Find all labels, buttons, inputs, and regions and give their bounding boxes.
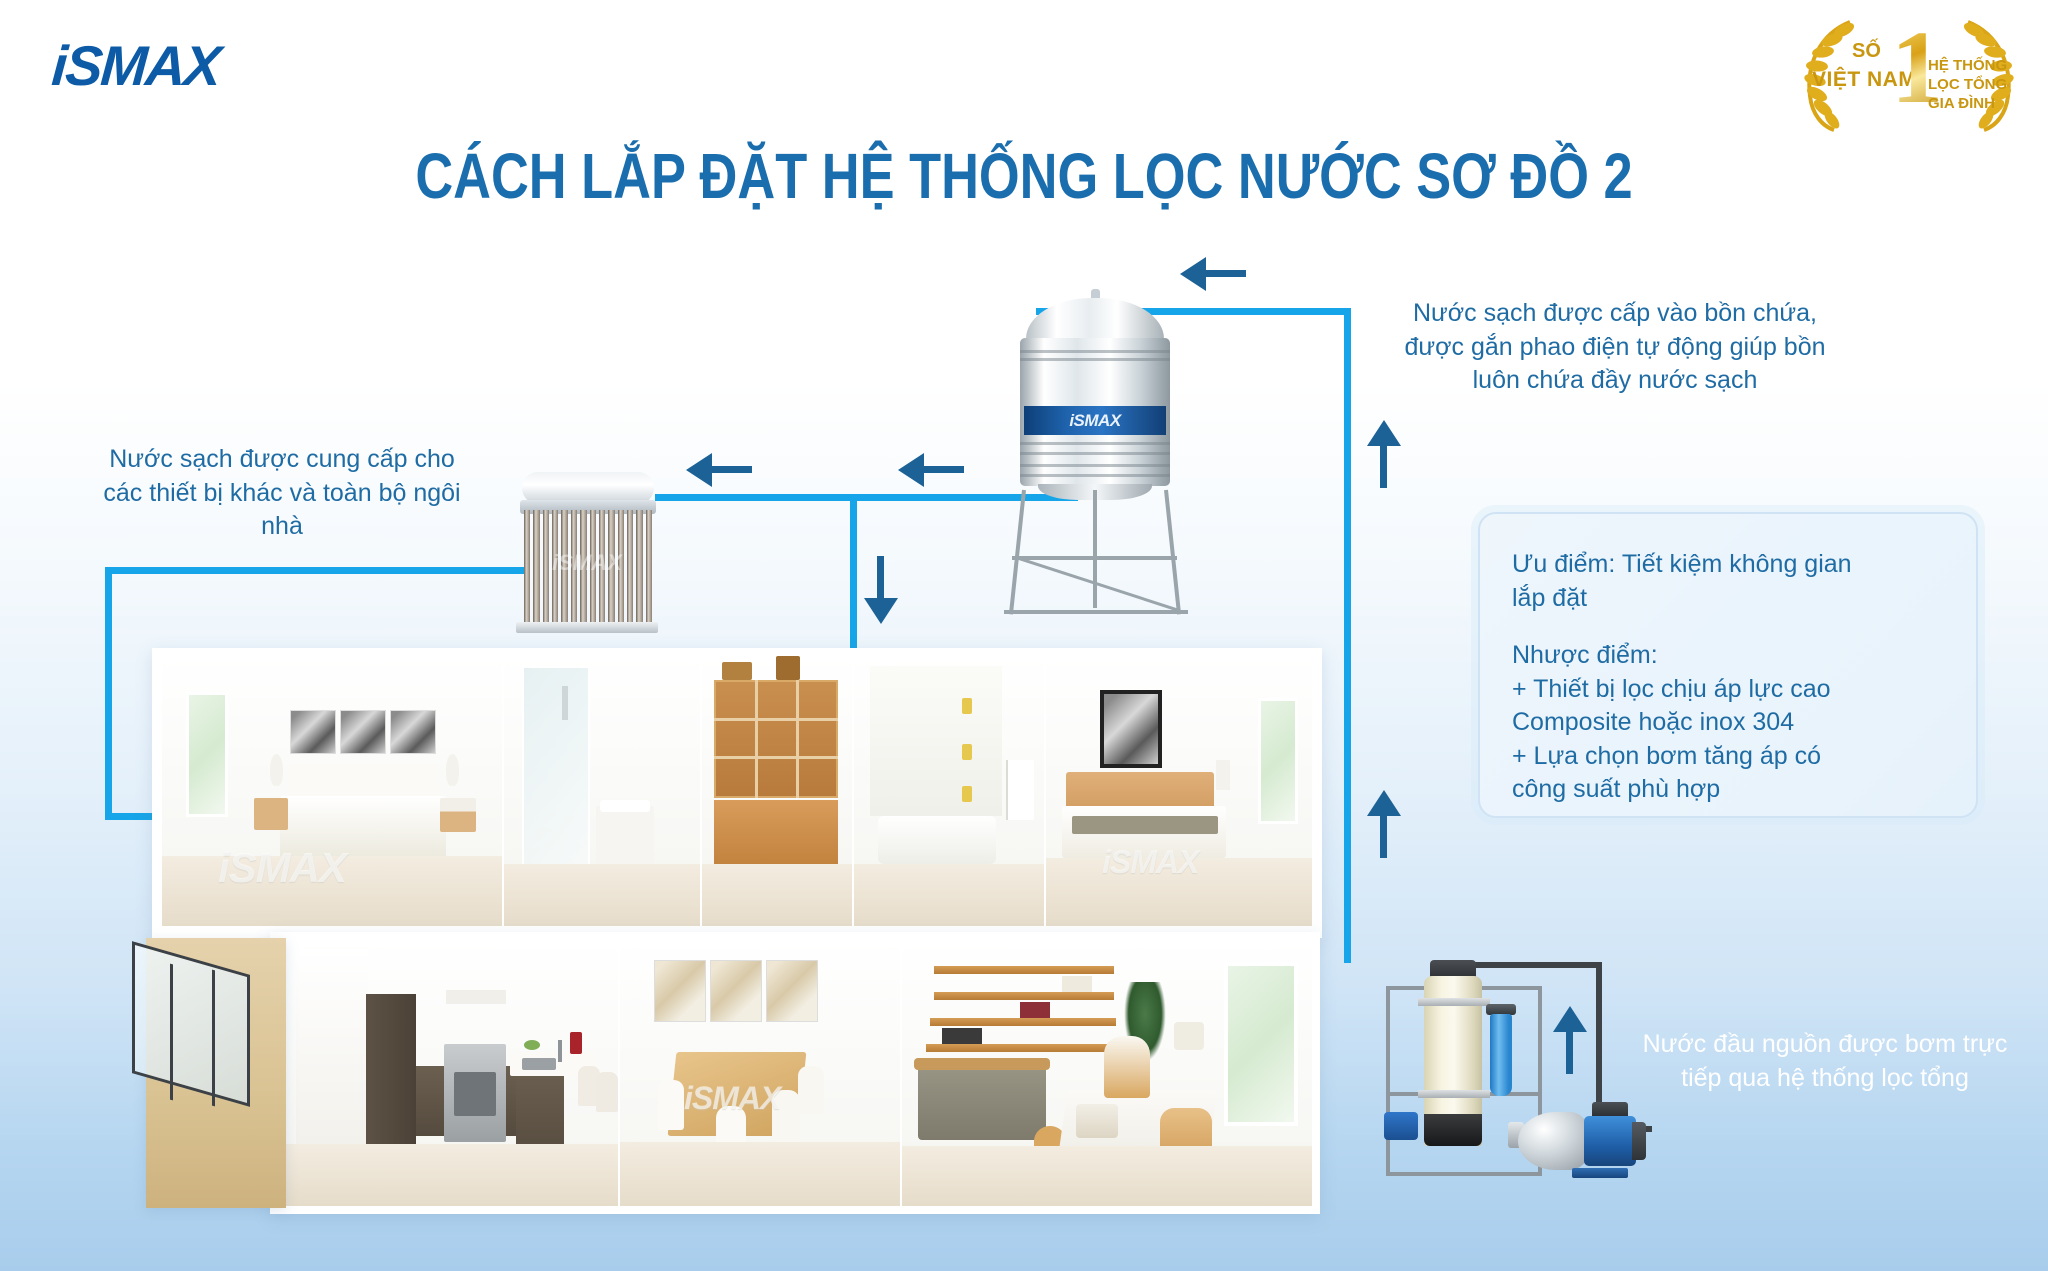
tank-body: iSMAX xyxy=(1020,338,1170,486)
solar-heater-watermark: iSMAX xyxy=(528,550,646,576)
bathroom-accessory xyxy=(962,786,972,802)
wardrobe-box xyxy=(776,656,800,680)
tank-rib xyxy=(1020,350,1170,353)
bed2-throw-blanket xyxy=(1072,816,1218,834)
fruit-bowl xyxy=(524,1040,540,1050)
bedroom-right-window xyxy=(1258,698,1298,824)
kitchen-column xyxy=(296,950,368,1170)
cons-line-3: + Lựa chọn bơm tăng áp có xyxy=(1512,740,1946,774)
callout-source-text: Nước đầu nguồn được bơm trực tiếp qua hệ… xyxy=(1630,1028,2020,1095)
wardrobe-shelf-divider xyxy=(714,718,838,721)
table-lamp-right xyxy=(446,754,459,786)
tank-rib xyxy=(1020,474,1170,477)
filter-side-valve xyxy=(1384,1112,1418,1140)
bathtub xyxy=(878,816,996,864)
shower-fixture xyxy=(562,686,568,720)
pros-line-1: Ưu điểm: Tiết kiệm không gian xyxy=(1512,548,1946,582)
tank-support-stand xyxy=(1000,490,1190,615)
room-dining: iSMAX xyxy=(620,940,900,1206)
room-bathtub xyxy=(854,656,1044,926)
arrow-left-to-tank xyxy=(1180,256,1250,292)
stand-leg xyxy=(1093,490,1097,608)
bedroom-left-window xyxy=(186,692,228,817)
dining-wall-art-panel xyxy=(654,960,706,1022)
tank-rib xyxy=(1020,452,1170,455)
tank-brand-label: iSMAX xyxy=(1069,411,1120,431)
badge-subtitle-line2: LỌC TỔNG xyxy=(1928,75,2007,94)
pros-cons-info-box: Ưu điểm: Tiết kiệm không gian lắp đặt Nh… xyxy=(1478,512,1978,818)
lounge-chair xyxy=(1104,1036,1150,1098)
dining-floor xyxy=(620,1142,900,1206)
bathroom-accessory xyxy=(962,698,972,714)
stand-leg xyxy=(1009,490,1026,615)
pipe-vertical-right-riser xyxy=(1344,308,1351,963)
tank-rib xyxy=(1020,442,1170,445)
arrow-up-riser-lower xyxy=(1366,790,1402,862)
shower-wall-tile xyxy=(870,666,1002,816)
ismax-logo: iSMAX xyxy=(50,33,222,98)
wall-shelf xyxy=(934,992,1114,1000)
room-bedroom-right: iSMAX xyxy=(1046,656,1312,926)
shower-glass-panel xyxy=(522,666,590,878)
house-upper-floor: iSMAX iSMAX xyxy=(152,648,1322,938)
page-title: CÁCH LẮP ĐẶT HỆ THỐNG LỌC NƯỚC SƠ ĐỒ 2 xyxy=(31,140,2018,213)
tank-rib xyxy=(1020,358,1170,361)
blue-cartridge-filter-housing xyxy=(1490,1014,1512,1096)
filter-vessel-strap xyxy=(1418,1090,1490,1098)
wardrobe-shelf-divider xyxy=(714,756,838,759)
bar-stool xyxy=(596,1072,618,1112)
shelf-decor xyxy=(942,1028,982,1044)
pipe-left-downcomer xyxy=(105,567,112,820)
solar-water-heater: iSMAX xyxy=(516,472,658,642)
house-lower-floor: iSMAX xyxy=(270,932,1320,1214)
pump-motor xyxy=(1584,1116,1636,1166)
nightstand-right xyxy=(440,798,476,832)
cons-line-1: + Thiết bị lọc chịu áp lực cao xyxy=(1512,673,1946,707)
wardrobe-shelf-divider xyxy=(755,680,758,798)
cons-title: Nhược điểm: xyxy=(1512,639,1946,673)
stand-rail xyxy=(1012,556,1177,560)
arrow-down-to-house xyxy=(863,556,899,626)
tank-rib xyxy=(1020,464,1170,467)
wall-art-triptych-panel xyxy=(340,710,386,754)
booster-pump xyxy=(1518,1100,1648,1186)
coffee-table xyxy=(1076,1104,1118,1138)
sofa-frame xyxy=(914,1058,1050,1070)
filter-vessel-base xyxy=(1424,1114,1482,1146)
callout-tank-text: Nước sạch được cấp vào bồn chứa, được gắ… xyxy=(1380,297,1850,398)
table-lamp-left xyxy=(270,754,283,786)
badge-subtitle-line1: HỆ THỐNG xyxy=(1928,56,2007,75)
shelf-decor xyxy=(1062,976,1092,992)
terrace-balcony xyxy=(146,938,286,1208)
water-storage-tank: iSMAX xyxy=(1020,298,1170,503)
sofa xyxy=(918,1064,1046,1140)
stand-diagonal-brace xyxy=(1016,556,1181,612)
kitchen-faucet xyxy=(558,1040,562,1062)
pipe-drop-to-house xyxy=(850,494,857,660)
coffee-machine xyxy=(570,1032,582,1054)
wall-art-triptych-panel xyxy=(390,710,436,754)
dining-wall-art-panel xyxy=(766,960,818,1022)
badge-subtitle-line3: GIA ĐÌNH xyxy=(1928,94,2007,113)
balcony-railing-post xyxy=(170,964,173,1101)
bathroom-sink xyxy=(600,800,650,812)
balcony-railing-post xyxy=(212,970,215,1107)
dining-watermark: iSMAX xyxy=(684,1080,780,1117)
filter-vessel-strap xyxy=(1418,998,1490,1006)
info-box-spacer xyxy=(1512,615,1946,639)
refrigerator xyxy=(366,994,416,1166)
wardrobe-shelving-unit xyxy=(714,680,838,798)
wardrobe-lower-cabinet xyxy=(714,800,838,864)
living-room-window xyxy=(1224,962,1298,1126)
shelf-books xyxy=(1020,1002,1050,1018)
wardrobe-box xyxy=(722,662,752,680)
bathtub-room-floor xyxy=(854,864,1044,926)
pump-volute-housing xyxy=(1518,1112,1592,1170)
room-kitchen xyxy=(278,940,618,1206)
solar-heater-frame xyxy=(516,622,658,633)
pros-line-2: lắp đặt xyxy=(1512,582,1946,616)
range-hood xyxy=(446,990,506,1004)
dining-chair xyxy=(658,1080,684,1130)
arrow-left-to-solar xyxy=(898,452,968,488)
arrow-up-riser-upper xyxy=(1366,420,1402,492)
room-living xyxy=(902,940,1312,1206)
room-wardrobe xyxy=(702,656,852,926)
wardrobe-shelf-divider xyxy=(796,680,799,798)
callout-house-text: Nước sạch được cung cấp cho các thiết bị… xyxy=(96,443,468,544)
nightstand-left xyxy=(254,798,288,830)
tank-brand-band: iSMAX xyxy=(1024,406,1166,435)
kitchen-sink xyxy=(522,1058,556,1070)
cons-line-4: công suất phù hợp xyxy=(1512,773,1946,807)
balcony-railing-glass xyxy=(132,941,250,1107)
kitchen-floor xyxy=(278,1144,618,1206)
dining-chair xyxy=(798,1066,824,1114)
bedroom-left-watermark: iSMAX xyxy=(218,844,346,892)
stand-rail xyxy=(1004,610,1188,614)
award-badge: SỐ VIỆT NAM 1 HỆ THỐNG LỌC TỔNG GIA ĐÌNH xyxy=(1794,8,2024,138)
cons-line-2: Composite hoặc inox 304 xyxy=(1512,706,1946,740)
towel-rail xyxy=(1006,760,1034,820)
oven-window xyxy=(454,1072,496,1116)
wall-shelf xyxy=(934,966,1114,974)
pump-mounting-foot xyxy=(1572,1168,1628,1178)
bed2-wall-lamp xyxy=(1216,760,1230,790)
badge-subtitle: HỆ THỐNG LỌC TỔNG GIA ĐÌNH xyxy=(1928,56,2007,114)
bathroom-upper-floor xyxy=(504,864,700,926)
wall-art-triptych-panel xyxy=(290,710,336,754)
living-floor xyxy=(902,1146,1312,1206)
floor-lamp xyxy=(1174,1022,1204,1050)
stand-leg xyxy=(1164,490,1181,615)
pipe-solar-left-branch xyxy=(105,567,530,574)
dining-wall-art-panel xyxy=(710,960,762,1022)
room-bathroom-upper xyxy=(504,656,700,926)
wall-shelf xyxy=(926,1044,1116,1052)
bathroom-accessory xyxy=(962,744,972,760)
pump-motor-end-cap xyxy=(1632,1122,1646,1160)
solar-tube xyxy=(646,510,652,625)
pipe-solar-feed xyxy=(655,494,855,501)
wall-shelf xyxy=(930,1018,1116,1026)
badge-so-label: SỐ xyxy=(1852,40,1881,63)
bedroom-right-watermark: iSMAX xyxy=(1102,844,1198,881)
arrow-left-from-tank xyxy=(686,452,756,488)
room-bedroom-left: iSMAX xyxy=(162,656,502,926)
bathroom-vanity xyxy=(596,806,654,866)
wardrobe-floor xyxy=(702,864,852,926)
framed-photo xyxy=(1100,690,1162,768)
